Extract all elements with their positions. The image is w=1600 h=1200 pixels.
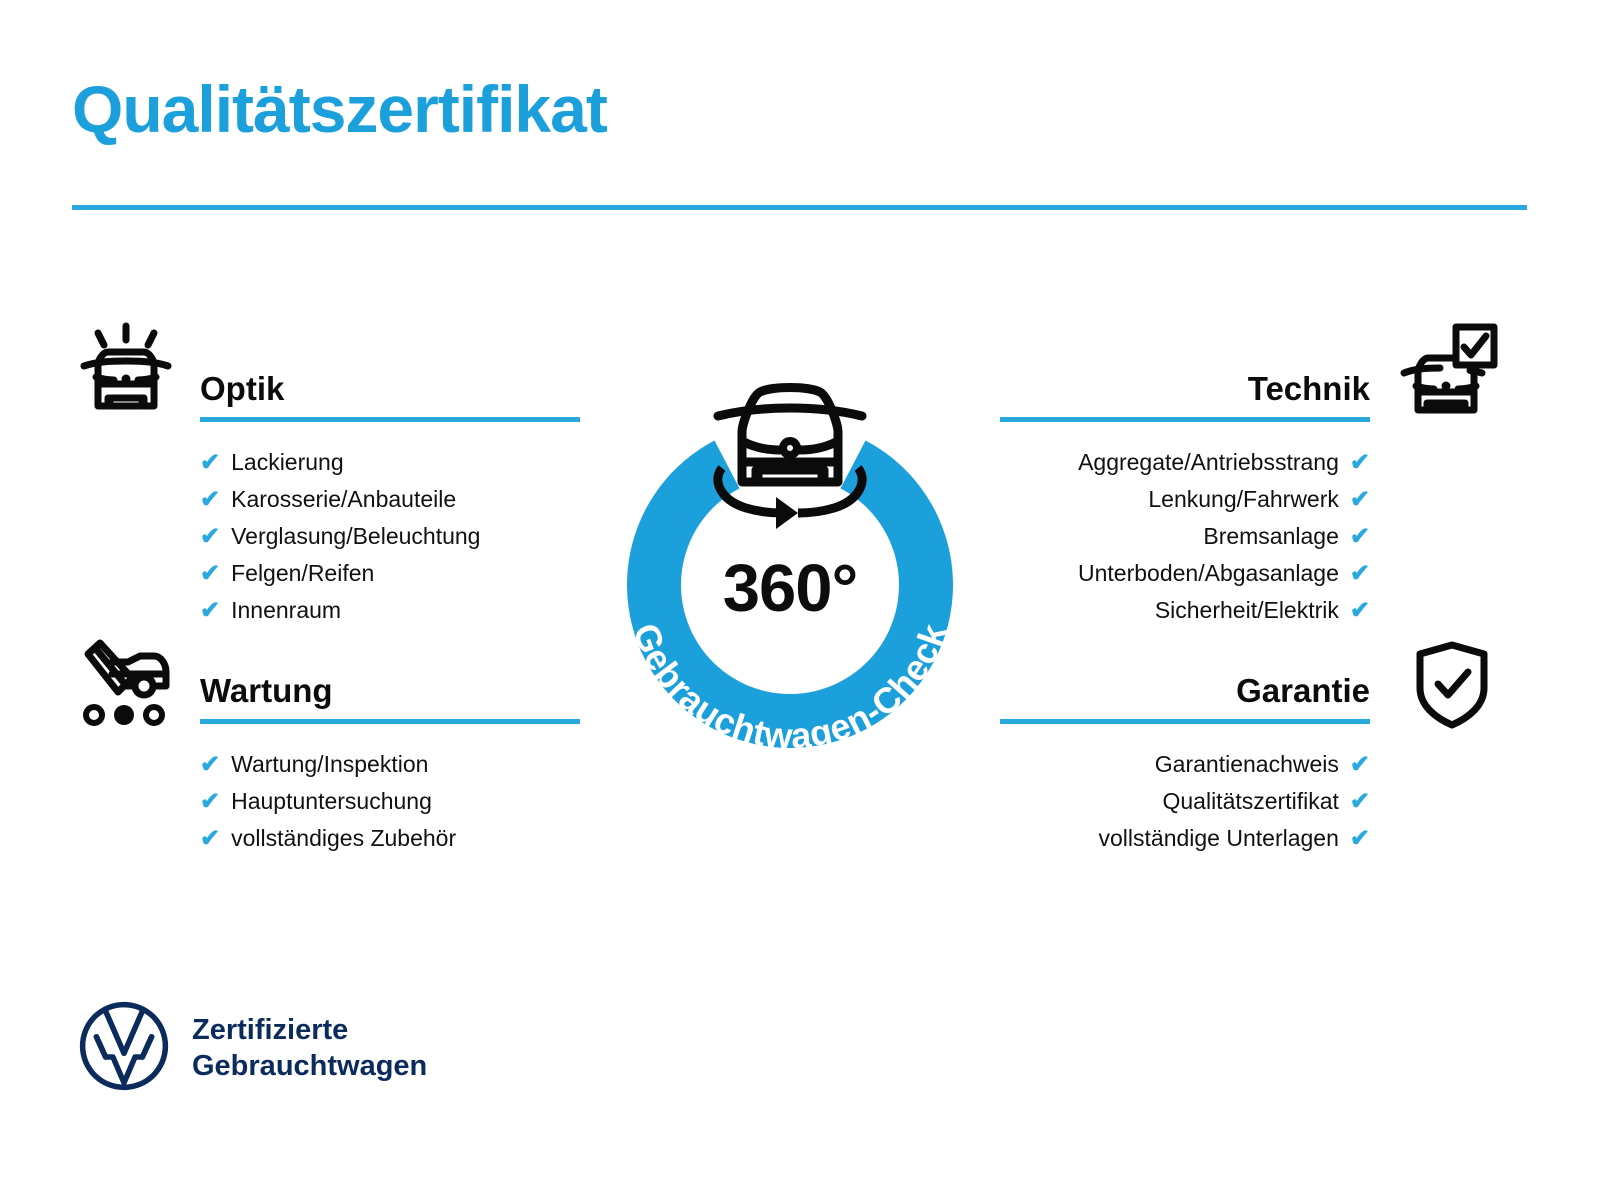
check-icon: ✔	[200, 820, 220, 857]
section-optik-header: Optik	[200, 368, 580, 422]
list-item: ✔Karosserie/Anbauteile	[200, 481, 580, 518]
section-garantie-divider	[1000, 719, 1370, 724]
list-item: ✔Hauptuntersuchung	[200, 783, 580, 820]
pencil-car-service-icon	[76, 638, 176, 733]
list-item: Aggregate/Antriebsstrang✔	[1000, 444, 1370, 481]
list-item: Bremsanlage✔	[1000, 518, 1370, 555]
list-item: Lenkung/Fahrwerk✔	[1000, 481, 1370, 518]
check-icon: ✔	[1350, 481, 1370, 518]
header-divider	[72, 205, 1527, 210]
section-optik: Optik ✔Lackierung ✔Karosserie/Anbauteile…	[200, 368, 580, 629]
list-item: ✔Innenraum	[200, 592, 580, 629]
check-icon: ✔	[200, 518, 220, 555]
car-front-rotate-icon	[718, 388, 862, 530]
wordmark-line-2: Gebrauchtwagen	[192, 1050, 427, 1082]
check-icon: ✔	[1350, 444, 1370, 481]
section-wartung-divider	[200, 719, 580, 724]
gebrauchtwagen-check-badge: Gebrauchtwagen-Check 360°	[565, 300, 1015, 760]
check-icon: ✔	[200, 444, 220, 481]
list-item-label: Lenkung/Fahrwerk	[1148, 481, 1339, 518]
list-item: Qualitätszertifikat✔	[1000, 783, 1370, 820]
check-icon: ✔	[1350, 820, 1370, 857]
page-title: Qualitätszertifikat	[72, 76, 607, 142]
list-item-label: Aggregate/Antriebsstrang	[1078, 444, 1339, 481]
check-icon: ✔	[200, 783, 220, 820]
section-optik-list: ✔Lackierung ✔Karosserie/Anbauteile ✔Verg…	[200, 444, 580, 629]
list-item-label: Karosserie/Anbauteile	[231, 481, 456, 518]
check-icon: ✔	[200, 592, 220, 629]
section-technik-list: Aggregate/Antriebsstrang✔ Lenkung/Fahrwe…	[1000, 444, 1370, 629]
section-optik-divider	[200, 417, 580, 422]
list-item-label: Felgen/Reifen	[231, 555, 374, 592]
list-item-label: Hauptuntersuchung	[231, 783, 432, 820]
section-garantie-header: Garantie	[1000, 670, 1370, 724]
list-item-label: Qualitätszertifikat	[1162, 783, 1338, 820]
list-item-label: Innenraum	[231, 592, 341, 629]
check-icon: ✔	[1350, 555, 1370, 592]
section-garantie-list: Garantienachweis✔ Qualitätszertifikat✔ v…	[1000, 746, 1370, 857]
section-wartung-header: Wartung	[200, 670, 580, 724]
section-wartung: Wartung ✔Wartung/Inspektion ✔Hauptunters…	[200, 670, 580, 857]
list-item-label: vollständiges Zubehör	[231, 820, 456, 857]
list-item-label: Verglasung/Beleuchtung	[231, 518, 480, 555]
section-garantie: Garantie Garantienachweis✔ Qualitätszert…	[1000, 670, 1370, 857]
section-wartung-title: Wartung	[200, 670, 580, 712]
section-technik-title: Technik	[1000, 368, 1370, 410]
section-optik-title: Optik	[200, 368, 580, 410]
vw-roundel-logo	[78, 1000, 170, 1097]
list-item: ✔vollständiges Zubehör	[200, 820, 580, 857]
list-item: ✔Lackierung	[200, 444, 580, 481]
list-item-label: Garantienachweis	[1155, 746, 1339, 783]
check-icon: ✔	[200, 481, 220, 518]
section-technik: Technik Aggregate/Antriebsstrang✔ Lenkun…	[1000, 368, 1370, 629]
section-wartung-list: ✔Wartung/Inspektion ✔Hauptuntersuchung ✔…	[200, 746, 580, 857]
list-item-label: Unterboden/Abgasanlage	[1078, 555, 1339, 592]
car-front-checkbox-icon	[1398, 322, 1498, 422]
list-item: Unterboden/Abgasanlage✔	[1000, 555, 1370, 592]
brand-wordmark: ZertifizierteGebrauchtwagen	[192, 1013, 427, 1084]
list-item: Sicherheit/Elektrik✔	[1000, 592, 1370, 629]
check-icon: ✔	[200, 746, 220, 783]
check-icon: ✔	[1350, 518, 1370, 555]
wordmark-line-1: Zertifizierte	[192, 1014, 348, 1046]
section-technik-header: Technik	[1000, 368, 1370, 422]
list-item-label: Sicherheit/Elektrik	[1155, 592, 1339, 629]
list-item: ✔Felgen/Reifen	[200, 555, 580, 592]
list-item: vollständige Unterlagen✔	[1000, 820, 1370, 857]
list-item: ✔Verglasung/Beleuchtung	[200, 518, 580, 555]
section-technik-divider	[1000, 417, 1370, 422]
check-icon: ✔	[1350, 783, 1370, 820]
check-icon: ✔	[1350, 592, 1370, 629]
list-item-label: Bremsanlage	[1203, 518, 1339, 555]
list-item-label: Lackierung	[231, 444, 344, 481]
list-item: ✔Wartung/Inspektion	[200, 746, 580, 783]
list-item-label: vollständige Unterlagen	[1099, 820, 1339, 857]
check-icon: ✔	[200, 555, 220, 592]
check-icon: ✔	[1350, 746, 1370, 783]
car-front-shine-icon	[76, 322, 176, 422]
list-item-label: Wartung/Inspektion	[231, 746, 428, 783]
section-garantie-title: Garantie	[1000, 670, 1370, 712]
shield-check-icon	[1412, 640, 1492, 735]
list-item: Garantienachweis✔	[1000, 746, 1370, 783]
footer-brand-lockup: ZertifizierteGebrauchtwagen	[78, 1000, 427, 1097]
badge-degrees-label: 360°	[565, 550, 1015, 627]
